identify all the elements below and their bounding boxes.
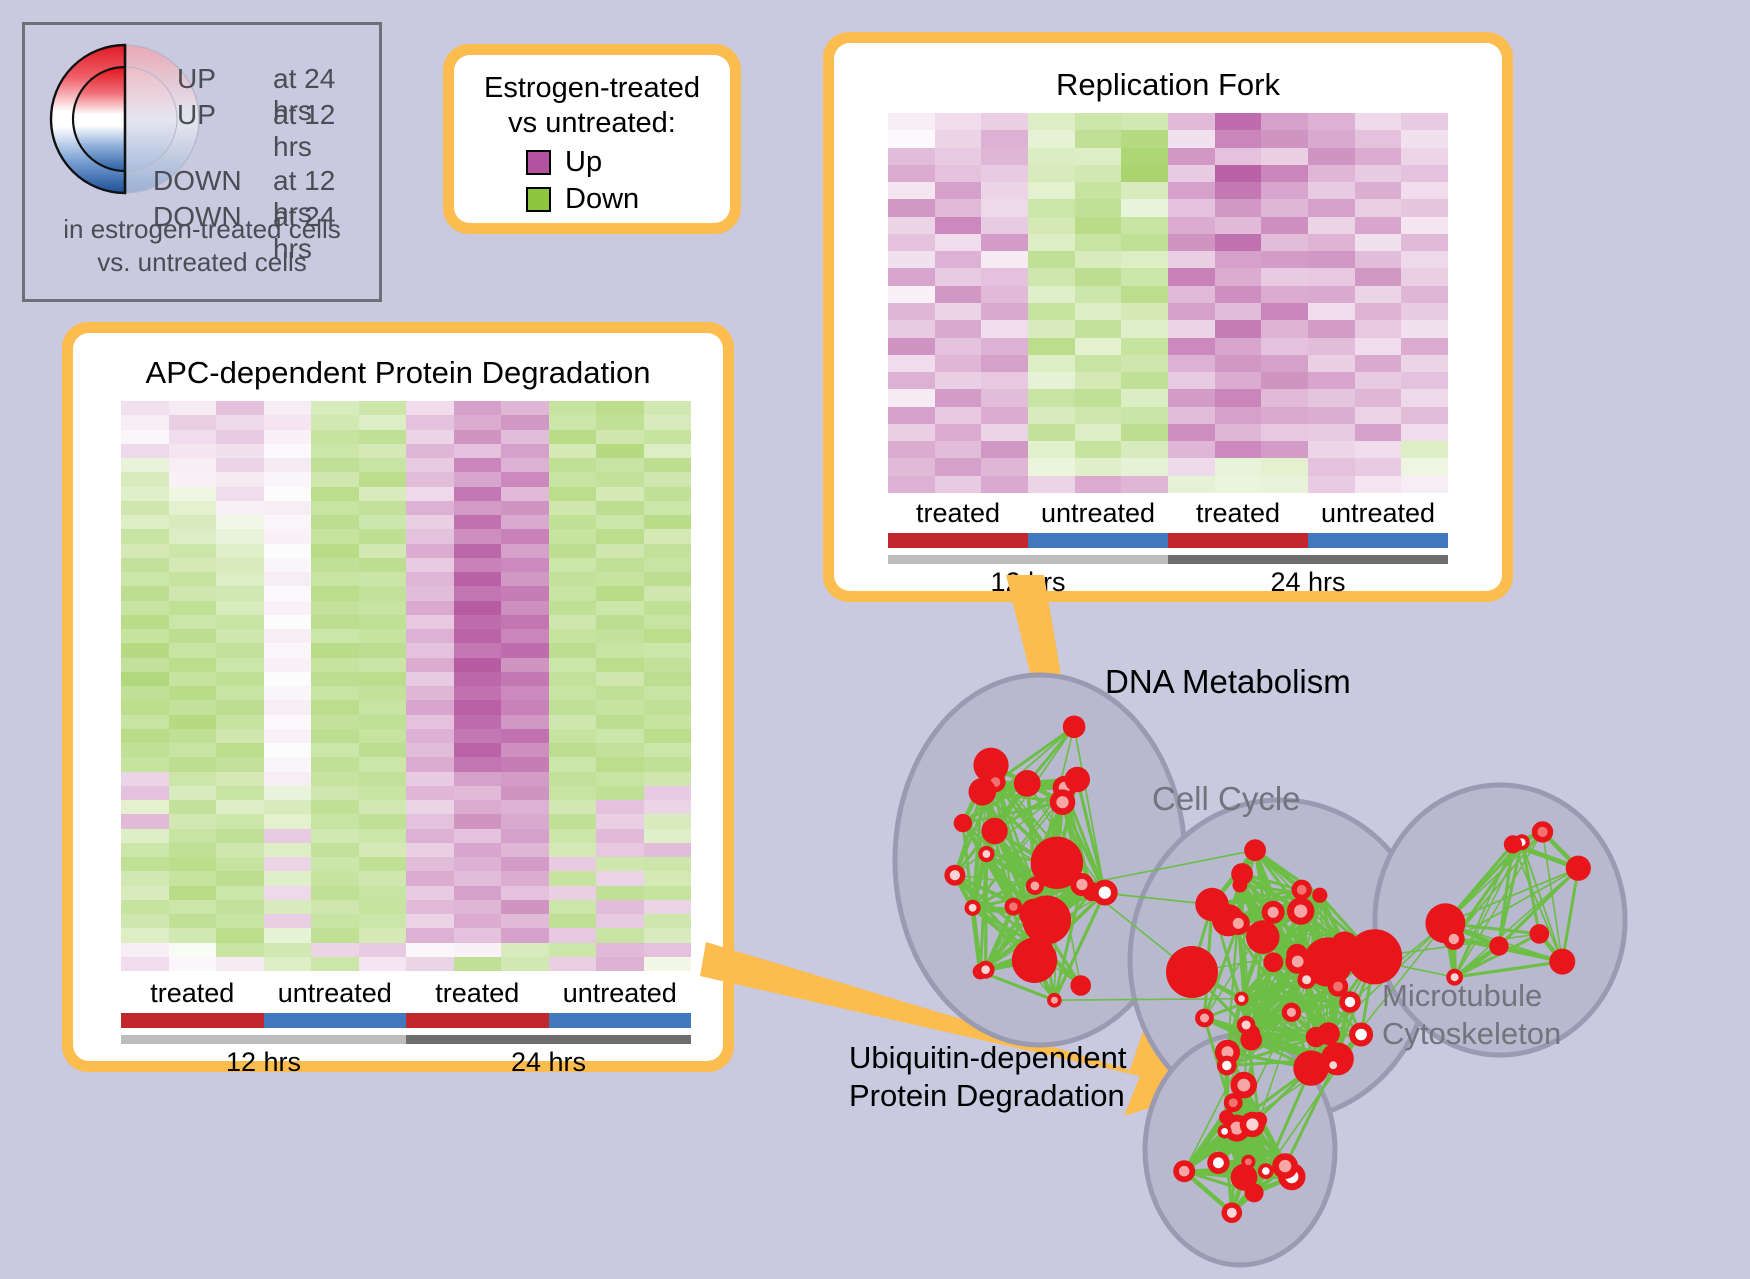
heatmap-cell bbox=[454, 757, 502, 771]
heatmap-cell bbox=[216, 928, 264, 942]
heatmap-cell bbox=[1261, 268, 1308, 285]
heatmap-cell bbox=[454, 643, 502, 657]
heatmap-cell bbox=[549, 772, 597, 786]
sample-group-segment bbox=[406, 1013, 549, 1028]
heatmap-cell bbox=[501, 444, 549, 458]
heatmap-cell bbox=[406, 814, 454, 828]
network-node-core bbox=[1345, 997, 1355, 1007]
heatmap-cell bbox=[596, 900, 644, 914]
heatmap-cell bbox=[359, 658, 407, 672]
heatmap-cell bbox=[1215, 338, 1262, 355]
heatmap-cell bbox=[1308, 424, 1355, 441]
network-node-core bbox=[981, 965, 990, 974]
heatmap-cell bbox=[216, 900, 264, 914]
legend-card: Estrogen-treated vs untreated: Up Down bbox=[443, 44, 741, 234]
heatmap-cell bbox=[406, 558, 454, 572]
heatmap-cell bbox=[169, 757, 217, 771]
heatmap-cell bbox=[501, 572, 549, 586]
heatmap-cell bbox=[1355, 303, 1402, 320]
heatmap-cell bbox=[644, 615, 692, 629]
heatmap-cell bbox=[311, 928, 359, 942]
heatmap-cell bbox=[311, 458, 359, 472]
heatmap-cell bbox=[264, 487, 312, 501]
heatmap-cell bbox=[169, 458, 217, 472]
heatmap-cell bbox=[888, 476, 935, 493]
heatmap-cell bbox=[501, 501, 549, 515]
heatmap-cell bbox=[644, 672, 692, 686]
heatmap-cell bbox=[1355, 199, 1402, 216]
heatmap-cell bbox=[216, 757, 264, 771]
figure-canvas: UP at 24 hrs UP at 12 hrs DOWN at 12 hrs… bbox=[0, 0, 1750, 1279]
heatmap-cell bbox=[121, 586, 169, 600]
heatmap-cell bbox=[454, 943, 502, 957]
heatmap-cell bbox=[888, 251, 935, 268]
heatmap-cell bbox=[359, 686, 407, 700]
color-key-footer-line2: vs. untreated cells bbox=[25, 246, 379, 279]
heatmap-cell bbox=[406, 772, 454, 786]
heatmap-cell bbox=[981, 424, 1028, 441]
heatmap-cell bbox=[359, 458, 407, 472]
heatmap-cell bbox=[406, 401, 454, 415]
heatmap-cell bbox=[121, 943, 169, 957]
heatmap-cell bbox=[216, 401, 264, 415]
heatmap-cell bbox=[406, 487, 454, 501]
heatmap-cell bbox=[1261, 182, 1308, 199]
legend-title-line1: Estrogen-treated bbox=[468, 71, 716, 106]
heatmap-cell bbox=[359, 786, 407, 800]
heatmap-cell bbox=[121, 558, 169, 572]
heatmap-cell bbox=[216, 629, 264, 643]
heatmap-cell bbox=[501, 544, 549, 558]
heatmap-cell bbox=[406, 928, 454, 942]
panel-replication-fork-inner: Replication Fork treateduntreatedtreated… bbox=[834, 43, 1502, 591]
heatmap-cell bbox=[596, 544, 644, 558]
heatmap-cell bbox=[1168, 338, 1215, 355]
heatmap-cell bbox=[121, 515, 169, 529]
heatmap-cell bbox=[121, 957, 169, 971]
heatmap-cell bbox=[501, 871, 549, 885]
heatmap-cell bbox=[1308, 303, 1355, 320]
heatmap-cell bbox=[888, 389, 935, 406]
network-node-core bbox=[1229, 1098, 1238, 1107]
heatmap-cell bbox=[549, 430, 597, 444]
heatmap-cell bbox=[1308, 268, 1355, 285]
heatmap-cell bbox=[311, 829, 359, 843]
heatmap-cell bbox=[359, 857, 407, 871]
network-node bbox=[1489, 936, 1508, 955]
heatmap-cell bbox=[216, 672, 264, 686]
network-node bbox=[1035, 940, 1053, 958]
heatmap-cell bbox=[216, 786, 264, 800]
sample-group-label: untreated bbox=[1028, 498, 1168, 529]
heatmap-cell bbox=[1075, 355, 1122, 372]
heatmap-cell bbox=[1355, 113, 1402, 130]
heatmap-cell bbox=[121, 629, 169, 643]
heatmap-cell bbox=[264, 544, 312, 558]
sample-group-segment bbox=[888, 533, 1028, 548]
heatmap-cell bbox=[981, 148, 1028, 165]
heatmap-cell bbox=[644, 871, 692, 885]
heatmap-cell bbox=[1355, 234, 1402, 251]
heatmap-cell bbox=[596, 444, 644, 458]
heatmap-cell bbox=[169, 686, 217, 700]
network-node-core bbox=[1237, 1079, 1250, 1092]
heatmap-cell bbox=[169, 444, 217, 458]
heatmap-cell bbox=[501, 401, 549, 415]
cluster-label-cell-cycle: Cell Cycle bbox=[1152, 780, 1301, 818]
heatmap-cell bbox=[311, 558, 359, 572]
heatmap-cell bbox=[406, 615, 454, 629]
heatmap-cell bbox=[359, 629, 407, 643]
heatmap-cell bbox=[1401, 251, 1448, 268]
heatmap-cell bbox=[454, 586, 502, 600]
heatmap-cell bbox=[1028, 441, 1075, 458]
heatmap-cell bbox=[501, 672, 549, 686]
heatmap-cell bbox=[596, 572, 644, 586]
heatmap-cell bbox=[406, 943, 454, 957]
heatmap-cell bbox=[1028, 424, 1075, 441]
heatmap-cell bbox=[1075, 130, 1122, 147]
heatmap-cell bbox=[888, 441, 935, 458]
heatmap-cell bbox=[454, 829, 502, 843]
sample-group-segment bbox=[549, 1013, 692, 1028]
heatmap-cell bbox=[406, 700, 454, 714]
heatmap-cell bbox=[644, 943, 692, 957]
heatmap-cell bbox=[216, 501, 264, 515]
heatmap-cell bbox=[1355, 251, 1402, 268]
heatmap-cell bbox=[406, 629, 454, 643]
heatmap-cell bbox=[935, 441, 982, 458]
heatmap-cell bbox=[1401, 130, 1448, 147]
heatmap-cell bbox=[1168, 458, 1215, 475]
heatmap-cell bbox=[454, 487, 502, 501]
heatmap-cell bbox=[264, 871, 312, 885]
heatmap-cell bbox=[981, 130, 1028, 147]
heatmap-cell bbox=[981, 372, 1028, 389]
heatmap-cell bbox=[596, 800, 644, 814]
heatmap-cell bbox=[121, 729, 169, 743]
heatmap-cell bbox=[121, 886, 169, 900]
legend-swatch-down bbox=[526, 187, 551, 212]
heatmap-cell bbox=[169, 544, 217, 558]
heatmap-cell bbox=[264, 914, 312, 928]
heatmap-cell bbox=[549, 928, 597, 942]
heatmap-cell bbox=[406, 686, 454, 700]
heatmap-cell bbox=[1121, 303, 1168, 320]
heatmap-cell bbox=[311, 444, 359, 458]
heatmap-cell bbox=[644, 472, 692, 486]
heatmap-cell bbox=[359, 415, 407, 429]
heatmap-cell bbox=[596, 401, 644, 415]
heatmap-cell bbox=[1028, 165, 1075, 182]
heatmap-cell bbox=[216, 615, 264, 629]
heatmap-cell bbox=[501, 943, 549, 957]
heatmap-cell bbox=[264, 900, 312, 914]
heatmap-cell bbox=[935, 148, 982, 165]
network-node-core bbox=[950, 870, 960, 880]
heatmap-cell bbox=[1215, 372, 1262, 389]
heatmap-cell bbox=[169, 672, 217, 686]
heatmap-cell bbox=[169, 814, 217, 828]
heatmap-cell bbox=[216, 772, 264, 786]
heatmap-cell bbox=[1215, 441, 1262, 458]
heatmap-cell bbox=[501, 472, 549, 486]
heatmap-cell bbox=[935, 286, 982, 303]
heatmap-cell bbox=[406, 900, 454, 914]
heatmap-cell bbox=[501, 886, 549, 900]
heatmap-cell bbox=[596, 458, 644, 472]
heatmap-cell bbox=[549, 501, 597, 515]
heatmap-cell bbox=[981, 286, 1028, 303]
heatmap-cell bbox=[1028, 234, 1075, 251]
heatmap-cell bbox=[169, 501, 217, 515]
heatmap-cell bbox=[121, 686, 169, 700]
heatmap-cell bbox=[935, 182, 982, 199]
sample-group-label: treated bbox=[121, 978, 264, 1009]
heatmap-cell bbox=[1168, 268, 1215, 285]
heatmap-cell bbox=[1261, 389, 1308, 406]
heatmap-cell bbox=[501, 458, 549, 472]
heatmap-cell bbox=[311, 487, 359, 501]
heatmap-cell bbox=[549, 401, 597, 415]
heatmap-cell bbox=[1401, 113, 1448, 130]
heatmap-cell bbox=[216, 415, 264, 429]
heatmap-cell bbox=[1075, 458, 1122, 475]
heatmap-cell bbox=[264, 715, 312, 729]
heatmap-cell bbox=[454, 928, 502, 942]
heatmap-cell bbox=[1121, 182, 1168, 199]
heatmap-cell bbox=[888, 268, 935, 285]
heatmap-cell bbox=[501, 786, 549, 800]
heatmap-cell bbox=[644, 914, 692, 928]
heatmap-cell bbox=[264, 757, 312, 771]
heatmap-cell bbox=[1168, 441, 1215, 458]
heatmap-cell bbox=[406, 586, 454, 600]
heatmap-cell bbox=[644, 430, 692, 444]
heatmap-cell bbox=[264, 501, 312, 515]
sample-group-label: treated bbox=[406, 978, 549, 1009]
heatmap-cell bbox=[406, 544, 454, 558]
heatmap-cell bbox=[549, 857, 597, 871]
heatmap-cell bbox=[1261, 286, 1308, 303]
heatmap-cell bbox=[1121, 320, 1168, 337]
heatmap-cell bbox=[454, 914, 502, 928]
heatmap-cell bbox=[1355, 355, 1402, 372]
heatmap-cell bbox=[1215, 130, 1262, 147]
heatmap-cell bbox=[549, 672, 597, 686]
heatmap-cell bbox=[1215, 286, 1262, 303]
heatmap-cell bbox=[1168, 199, 1215, 216]
heatmap-cell bbox=[1261, 320, 1308, 337]
heatmap-cell bbox=[1075, 268, 1122, 285]
heatmap-cell bbox=[311, 472, 359, 486]
heatmap-cell bbox=[549, 757, 597, 771]
timepoint-label: 24 hrs bbox=[406, 1047, 691, 1078]
heatmap-cell bbox=[121, 829, 169, 843]
network-node-core bbox=[1233, 918, 1244, 929]
network-node-core bbox=[1179, 1166, 1190, 1177]
heatmap-cell bbox=[1028, 217, 1075, 234]
timepoint-segment bbox=[888, 555, 1168, 564]
heatmap-cell bbox=[311, 672, 359, 686]
heatmap-cell bbox=[216, 829, 264, 843]
heatmap-cell bbox=[406, 529, 454, 543]
heatmap-cell bbox=[406, 444, 454, 458]
heatmap-cell bbox=[311, 886, 359, 900]
heatmap-cell bbox=[121, 757, 169, 771]
heatmap-cell bbox=[1308, 113, 1355, 130]
heatmap-cell bbox=[1401, 268, 1448, 285]
heatmap-cell bbox=[454, 444, 502, 458]
network-node bbox=[1306, 1027, 1326, 1047]
heatmap-cell bbox=[549, 957, 597, 971]
heatmap-cell bbox=[644, 643, 692, 657]
heatmap-cell bbox=[216, 943, 264, 957]
heatmap-cell bbox=[359, 928, 407, 942]
heatmap-cell bbox=[501, 601, 549, 615]
heatmap-cell bbox=[644, 544, 692, 558]
heatmap-cell bbox=[216, 686, 264, 700]
heatmap-cell bbox=[1401, 355, 1448, 372]
sample-group-segment bbox=[1168, 533, 1308, 548]
timepoint-segment bbox=[406, 1035, 691, 1044]
heatmap-cell bbox=[1121, 130, 1168, 147]
heatmap-cell bbox=[1028, 148, 1075, 165]
heatmap-cell bbox=[359, 800, 407, 814]
heatmap-cell bbox=[216, 458, 264, 472]
heatmap-cell bbox=[596, 629, 644, 643]
heatmap-cell bbox=[1401, 389, 1448, 406]
heatmap-cell bbox=[501, 928, 549, 942]
heatmap-cell bbox=[169, 900, 217, 914]
heatmap-cell bbox=[1075, 182, 1122, 199]
heatmap-cell bbox=[501, 515, 549, 529]
heatmap-cell bbox=[264, 643, 312, 657]
network-node bbox=[1014, 770, 1041, 797]
heatmap-cell bbox=[501, 415, 549, 429]
network-node-core bbox=[1076, 879, 1087, 890]
heatmap-cell bbox=[121, 900, 169, 914]
heatmap-cell bbox=[264, 814, 312, 828]
heatmap-cell bbox=[121, 572, 169, 586]
heatmap-cell bbox=[264, 529, 312, 543]
network-node bbox=[1195, 888, 1228, 921]
heatmap-cell bbox=[121, 871, 169, 885]
heatmap-cell bbox=[644, 843, 692, 857]
heatmap-cell bbox=[1261, 251, 1308, 268]
heatmap-cell bbox=[1121, 234, 1168, 251]
heatmap-cell bbox=[1401, 182, 1448, 199]
sample-group-segment bbox=[1028, 533, 1168, 548]
network-node-core bbox=[1329, 1061, 1337, 1069]
heatmap-cell bbox=[1355, 165, 1402, 182]
heatmap-cell bbox=[1261, 303, 1308, 320]
heatmap-cell bbox=[981, 476, 1028, 493]
network-node-core bbox=[1279, 1160, 1291, 1172]
heatmap-cell bbox=[1121, 458, 1168, 475]
heatmap-cell bbox=[1355, 320, 1402, 337]
heatmap-cell bbox=[454, 729, 502, 743]
heatmap-cell bbox=[1121, 251, 1168, 268]
heatmap-cell bbox=[169, 886, 217, 900]
network-node-core bbox=[1242, 1021, 1251, 1030]
heatmap-cell bbox=[311, 757, 359, 771]
heatmap-cell bbox=[311, 914, 359, 928]
heatmap-cell bbox=[1215, 407, 1262, 424]
heatmap-cell bbox=[501, 529, 549, 543]
heatmap-cell bbox=[1121, 338, 1168, 355]
heatmap-cell bbox=[1401, 458, 1448, 475]
heatmap-cell bbox=[121, 743, 169, 757]
heatmap-cell bbox=[216, 572, 264, 586]
heatmap-cell bbox=[1028, 268, 1075, 285]
panel-replication-fork: Replication Fork treateduntreatedtreated… bbox=[823, 32, 1513, 602]
heatmap-cell bbox=[1215, 113, 1262, 130]
heatmap-cell bbox=[1261, 407, 1308, 424]
heatmap-cell bbox=[1401, 148, 1448, 165]
heatmap-cell bbox=[549, 800, 597, 814]
heatmap-cell bbox=[1308, 148, 1355, 165]
sample-group-bar-apc bbox=[121, 1013, 691, 1028]
heatmap-cell bbox=[549, 715, 597, 729]
heatmap-cell bbox=[169, 472, 217, 486]
heatmap-cell bbox=[359, 729, 407, 743]
heatmap-cell bbox=[454, 544, 502, 558]
key-label-down-12: DOWN bbox=[153, 165, 242, 197]
heatmap-cell bbox=[216, 472, 264, 486]
heatmap-cell bbox=[1215, 458, 1262, 475]
heatmap-cell bbox=[454, 430, 502, 444]
heatmap-cell bbox=[935, 320, 982, 337]
network-node-core bbox=[1268, 907, 1279, 918]
heatmap-cell bbox=[549, 700, 597, 714]
sample-group-label: untreated bbox=[549, 978, 692, 1009]
heatmap-cell bbox=[169, 957, 217, 971]
heatmap-cell bbox=[406, 957, 454, 971]
heatmap-cell bbox=[121, 444, 169, 458]
heatmap-cell bbox=[1215, 355, 1262, 372]
heatmap-cell bbox=[1121, 424, 1168, 441]
heatmap-cell bbox=[121, 658, 169, 672]
heatmap-cell bbox=[121, 458, 169, 472]
heatmap-cell bbox=[454, 658, 502, 672]
cluster-label-microtubule-line1: Microtubule bbox=[1382, 978, 1542, 1014]
heatmap-cell bbox=[406, 786, 454, 800]
heatmap-cell bbox=[596, 786, 644, 800]
heatmap-cell bbox=[1121, 165, 1168, 182]
network-node bbox=[1504, 835, 1522, 853]
heatmap-cell bbox=[216, 487, 264, 501]
heatmap-cell bbox=[1308, 217, 1355, 234]
heatmap-cell bbox=[1075, 372, 1122, 389]
heatmap-cell bbox=[454, 871, 502, 885]
heatmap-cell bbox=[1261, 130, 1308, 147]
heatmap-cell bbox=[264, 686, 312, 700]
heatmap-cell bbox=[216, 515, 264, 529]
heatmap-cell bbox=[1168, 407, 1215, 424]
heatmap-cell bbox=[1121, 286, 1168, 303]
heatmap-cell bbox=[1121, 389, 1168, 406]
heatmap-cell bbox=[406, 672, 454, 686]
heatmap-cell bbox=[1028, 182, 1075, 199]
heatmap-cell bbox=[888, 217, 935, 234]
heatmap-cell bbox=[454, 843, 502, 857]
heatmap-cell bbox=[216, 743, 264, 757]
network-node-core bbox=[1056, 796, 1068, 808]
heatmap-cell bbox=[501, 658, 549, 672]
legend-label-down: Down bbox=[565, 183, 639, 216]
heatmap-cell bbox=[644, 586, 692, 600]
